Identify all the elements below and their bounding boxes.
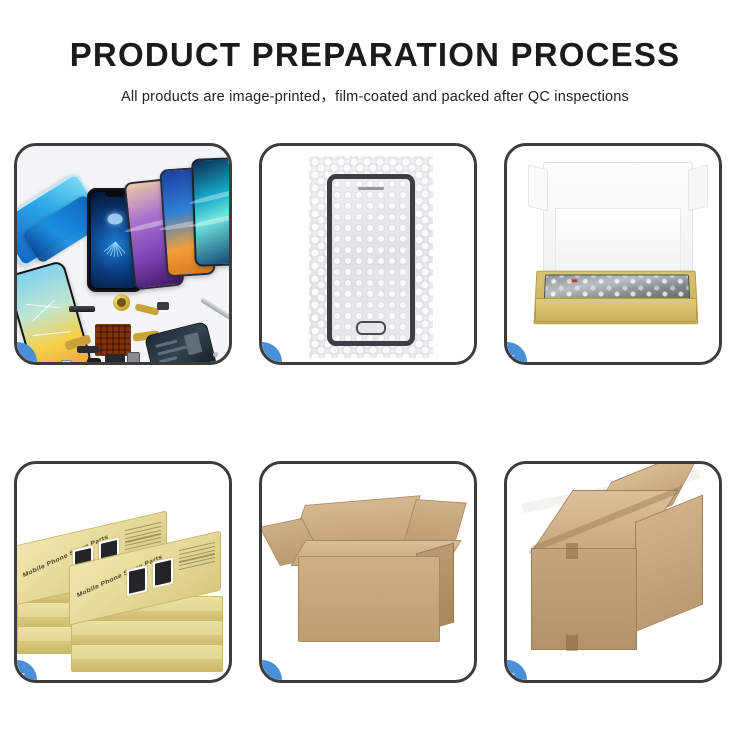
wrapped-screen — [327, 174, 415, 346]
screen-crack — [26, 304, 60, 309]
foam-insert — [555, 208, 681, 274]
step-panel-4: Mobile Phone Spare Parts Mobile Phone Sp… — [14, 461, 232, 683]
kraft-box-front — [535, 298, 697, 322]
step-badge-5: V — [262, 660, 282, 680]
teal-wave-phone — [191, 157, 229, 267]
screw-part — [221, 360, 226, 362]
black-bar-part — [69, 306, 95, 312]
bubble-wrap-background — [309, 156, 433, 358]
flex-cable-part — [77, 346, 99, 353]
retail-box — [71, 644, 223, 672]
screw-part — [213, 352, 218, 357]
step-panel-6: VI — [504, 461, 722, 683]
battery-part — [127, 352, 140, 362]
step-1-image: I — [17, 146, 229, 362]
box-stack: Mobile Phone Spare Parts Mobile Phone Sp… — [17, 482, 229, 680]
tweezers-tool — [200, 297, 229, 319]
screen-crack — [32, 300, 54, 322]
phone-notch — [105, 192, 125, 197]
phone-wallpaper-stripe — [189, 187, 229, 205]
step-panel-3: III — [504, 143, 722, 365]
carton-front-face — [531, 548, 637, 650]
header: PRODUCT PREPARATION PROCESS All products… — [0, 0, 750, 106]
flex-cable-part — [135, 303, 160, 316]
page-subtitle: All products are image-printed，film-coat… — [0, 71, 750, 106]
process-step-grid: I II — [14, 143, 736, 688]
sim-tray-part — [61, 360, 72, 362]
jellyfish-dome-icon — [108, 213, 123, 224]
box-spec-lines — [179, 542, 215, 573]
step-5-image: V — [262, 464, 474, 680]
carton-flap-tab — [566, 543, 578, 559]
copper-grid-part — [95, 324, 131, 356]
step-panel-1: I — [14, 143, 232, 365]
step-panel-5: V — [259, 461, 477, 683]
carton-flap-tab — [566, 635, 578, 651]
step-badge-2: II — [262, 342, 282, 362]
page-title: PRODUCT PREPARATION PROCESS — [0, 0, 750, 71]
step-panel-2: II — [259, 143, 477, 365]
product-preparation-infographic: PRODUCT PREPARATION PROCESS All products… — [0, 0, 750, 750]
module-part — [105, 354, 125, 362]
home-button — [356, 321, 386, 335]
screen-crack — [33, 331, 71, 336]
disassembled-phone-body — [144, 321, 218, 362]
phone-wallpaper-stripe — [189, 212, 229, 229]
step-badge-6: VI — [507, 660, 527, 680]
gold-coil-part — [113, 294, 130, 311]
step-badge-3: III — [507, 342, 527, 362]
red-label-mark — [567, 279, 577, 282]
step-4-image: Mobile Phone Spare Parts Mobile Phone Sp… — [17, 464, 229, 680]
earpiece-speaker — [358, 187, 384, 190]
step-2-image: II — [262, 146, 474, 362]
step-3-image: III — [507, 146, 719, 362]
step-6-image: VI — [507, 464, 719, 680]
camera-module-part — [87, 358, 101, 362]
carton-front-face — [298, 556, 440, 642]
connector-part — [157, 302, 169, 310]
